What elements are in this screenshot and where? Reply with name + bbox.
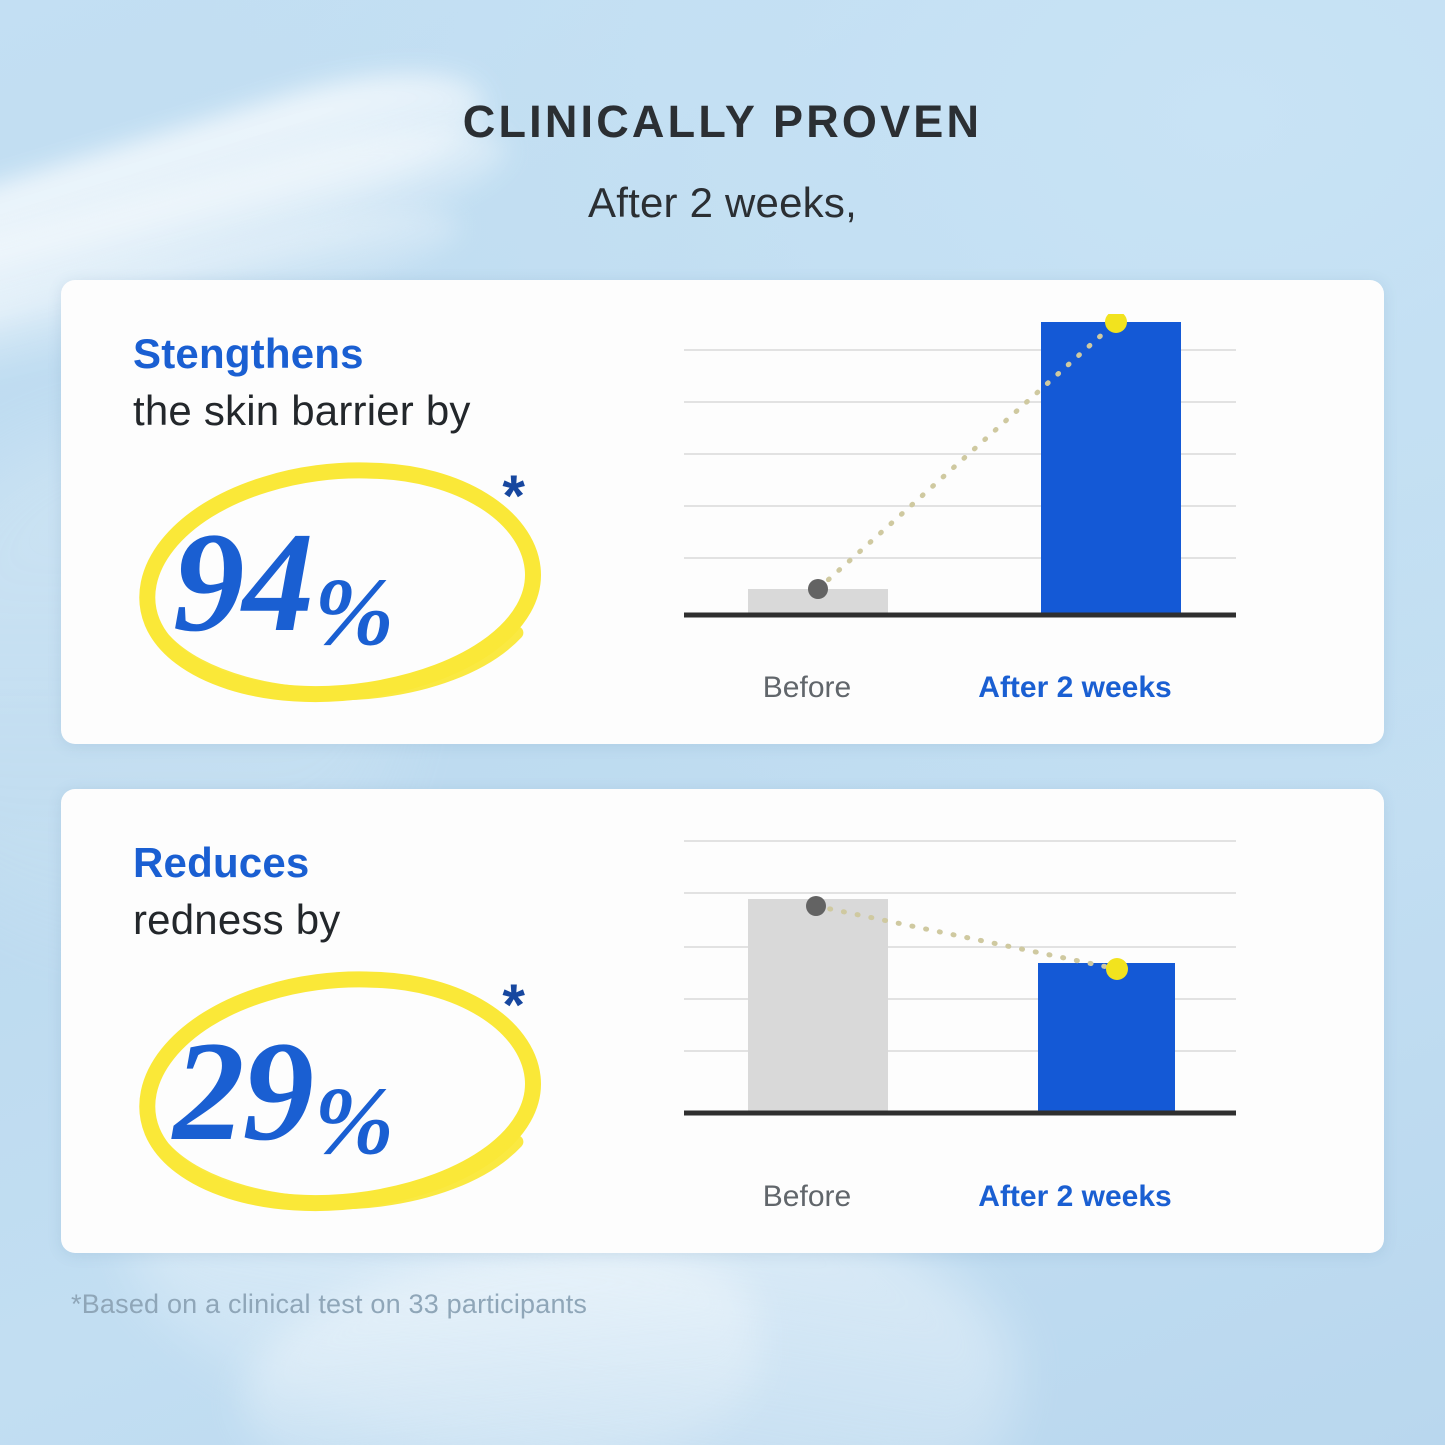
page-subtitle: After 2 weeks, [0,179,1445,227]
stat-card-chart-column: Before After 2 weeks [678,314,1338,714]
data-point-before [806,896,826,916]
percent-sign: % [314,1073,394,1175]
percent-sign: % [314,564,394,666]
data-point-after [1106,958,1128,980]
bar-after [1041,322,1181,614]
asterisk-marker: * [502,468,525,526]
stat-card-list: Stengthens the skin barrier by 94 % * [0,280,1445,1253]
asterisk-marker: * [502,977,525,1035]
stat-card-chart-column: Before After 2 weeks [678,823,1338,1223]
percentage-number: 29 [173,1020,312,1163]
data-point-before [808,579,828,599]
chart-axis-labels: Before After 2 weeks [684,666,1244,710]
percentage-highlight-group: 94 % * [133,458,543,706]
bar-chart-redness: Before After 2 weeks [684,823,1244,1223]
stat-card-text-column: Stengthens the skin barrier by 94 % * [133,314,678,714]
stat-heading: Stengthens [133,330,678,377]
page-title: CLINICALLY PROVEN [0,96,1445,148]
percentage-value-group: 94 % [173,498,518,666]
stat-card-text-column: Reduces redness by 29 % * [133,823,678,1223]
percentage-highlight-group: 29 % * [133,967,543,1215]
chart-axis-labels: Before After 2 weeks [684,1175,1244,1219]
percentage-number: 94 [173,511,312,654]
footnote-disclaimer: *Based on a clinical test on 33 particip… [61,1289,1384,1320]
stat-card-skin-barrier: Stengthens the skin barrier by 94 % * [61,280,1384,744]
axis-label-before: Before [684,1175,930,1219]
percentage-value-group: 29 % [173,1007,518,1175]
axis-label-after: After 2 weeks [930,666,1220,710]
bar-before [748,899,888,1113]
stat-subheading: the skin barrier by [133,385,678,436]
stat-heading: Reduces [133,839,678,886]
bar-after [1038,963,1175,1113]
stat-subheading: redness by [133,894,678,945]
header: CLINICALLY PROVEN After 2 weeks, [0,0,1445,227]
axis-label-before: Before [684,666,930,710]
bar-chart-skin-barrier: Before After 2 weeks [684,314,1244,714]
stat-card-redness: Reduces redness by 29 % * [61,789,1384,1253]
axis-label-after: After 2 weeks [930,1175,1220,1219]
